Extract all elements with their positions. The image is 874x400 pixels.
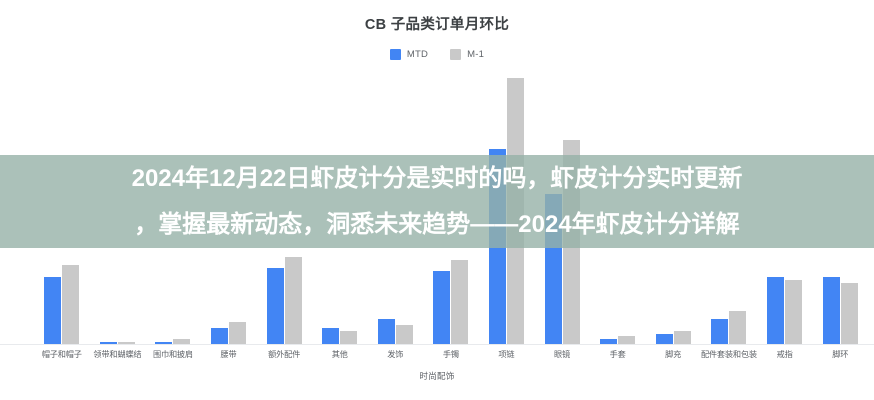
x-axis-label: 领带和蝴蝶结 [90, 348, 146, 360]
legend-label-m1: M-1 [467, 49, 484, 60]
x-axis-label: 腰带 [201, 348, 257, 360]
bar-m1[interactable] [674, 331, 691, 345]
chart-legend: MTD M-1 [0, 49, 874, 60]
chart-title: CB 子品类订单月环比 [0, 13, 874, 34]
x-axis-label: 手镯 [423, 348, 479, 360]
bar-mtd[interactable] [433, 271, 450, 345]
legend-item-mtd[interactable]: MTD [390, 49, 428, 60]
x-axis-label: 脚充 [645, 348, 701, 360]
x-axis-label: 戒指 [757, 348, 813, 360]
x-axis-label: 围巾和披肩 [145, 348, 201, 360]
x-axis-label: 脚环 [812, 348, 868, 360]
bar-mtd[interactable] [267, 268, 284, 345]
x-axis-label: 配件套装和包装 [701, 348, 757, 360]
x-axis-label: 帽子和帽子 [34, 348, 90, 360]
x-axis-label: 其他 [312, 348, 368, 360]
bar-m1[interactable] [451, 260, 468, 345]
x-axis-baseline [0, 344, 874, 345]
bar-mtd[interactable] [378, 319, 395, 345]
x-axis-label: 手套 [590, 348, 646, 360]
x-axis-title: 时尚配饰 [0, 370, 874, 382]
bar-m1[interactable] [729, 311, 746, 345]
bar-mtd[interactable] [711, 319, 728, 345]
bar-mtd[interactable] [767, 277, 784, 345]
bar-mtd[interactable] [44, 277, 61, 345]
bar-m1[interactable] [229, 322, 246, 345]
x-axis-label: 发饰 [367, 348, 423, 360]
bar-m1[interactable] [396, 325, 413, 345]
bar-mtd[interactable] [211, 328, 228, 345]
screenshot-root: CB 子品类订单月环比 MTD M-1 帽子和帽子领带和蝴蝶结围巾和披肩腰带额外… [0, 0, 874, 400]
legend-label-mtd: MTD [407, 49, 428, 60]
bar-m1[interactable] [785, 280, 802, 345]
x-axis-label: 眼镜 [534, 348, 590, 360]
bar-m1[interactable] [841, 283, 858, 345]
x-axis-label: 项链 [479, 348, 535, 360]
overlay-headline-line-2: ，掌握最新动态，洞悉未来趋势——2024年虾皮计分详解 [0, 202, 874, 248]
legend-item-m1[interactable]: M-1 [450, 49, 484, 60]
bar-mtd[interactable] [322, 328, 339, 345]
legend-swatch-m1 [450, 49, 461, 60]
overlay-banner: 2024年12月22日虾皮计分是实时的吗，虾皮计分实时更新 ，掌握最新动态，洞悉… [0, 155, 874, 248]
bar-m1[interactable] [62, 265, 79, 345]
x-axis-label: 额外配件 [256, 348, 312, 360]
overlay-headline-line-1: 2024年12月22日虾皮计分是实时的吗，虾皮计分实时更新 [0, 156, 874, 202]
bar-m1[interactable] [340, 331, 357, 345]
bar-mtd[interactable] [823, 277, 840, 345]
legend-swatch-mtd [390, 49, 401, 60]
bar-m1[interactable] [285, 257, 302, 345]
x-axis-labels: 帽子和帽子领带和蝴蝶结围巾和披肩腰带额外配件其他发饰手镯项链眼镜手套脚充配件套装… [34, 348, 868, 360]
